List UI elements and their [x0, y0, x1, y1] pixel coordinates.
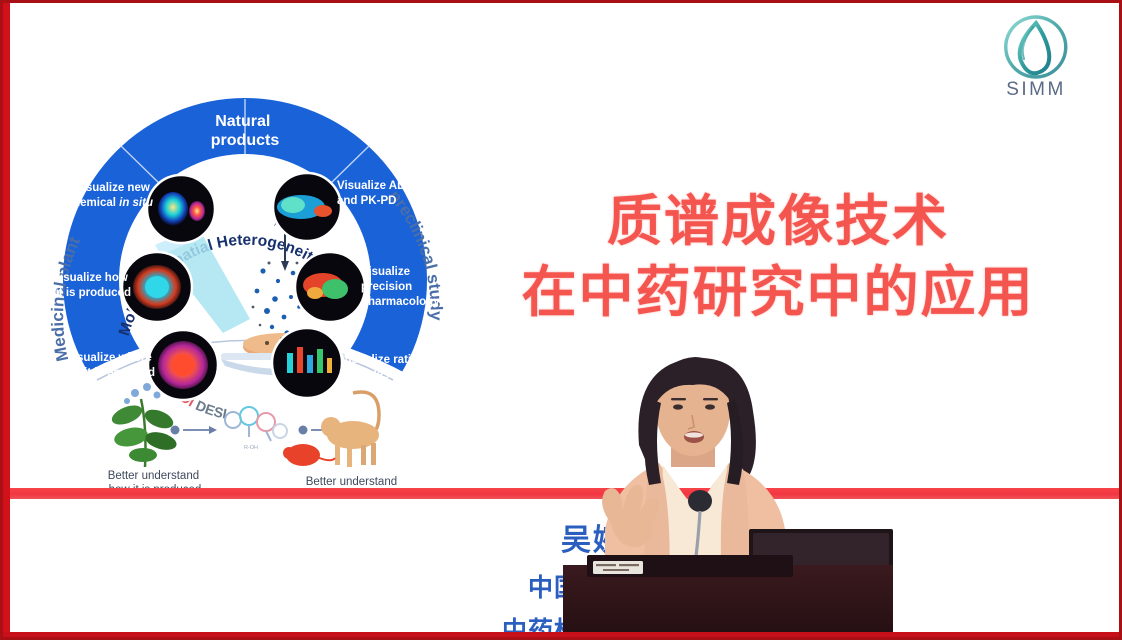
slide-title: 质谱成像技术 在中药研究中的应用	[473, 189, 1083, 325]
node-visualize-rational-drug-design	[272, 328, 342, 398]
podium-name-plate	[593, 561, 643, 574]
mass-spectrometry-imaging-diagram: Natural products Medicinal plant preclin…	[35, 75, 455, 495]
node-visualize-precision-pharmacology	[295, 252, 365, 322]
node-visualize-adme	[273, 173, 341, 241]
simm-mark	[1006, 17, 1066, 77]
node-visualize-how-produced	[122, 252, 192, 322]
slide-title-line-2: 在中药研究中的应用	[473, 260, 1083, 325]
left-red-edge-bar	[3, 3, 10, 637]
svg-text:R-OH: R-OH	[244, 445, 258, 451]
bottom-red-edge-bar	[3, 632, 1119, 637]
speaker-photo	[563, 333, 893, 640]
node-visualize-where-enriched	[148, 330, 218, 400]
simm-logo-text: SIMM	[981, 79, 1091, 101]
natural-products-line1: Natural	[215, 113, 270, 130]
simm-logo: . SIMM	[981, 11, 1091, 103]
node-visualize-new-chemical	[147, 175, 215, 243]
slide-title-line-1: 质谱成像技术	[473, 189, 1083, 254]
presentation-screenshot: Natural products Medicinal plant preclin…	[0, 0, 1122, 640]
natural-products-line2: products	[211, 132, 280, 149]
